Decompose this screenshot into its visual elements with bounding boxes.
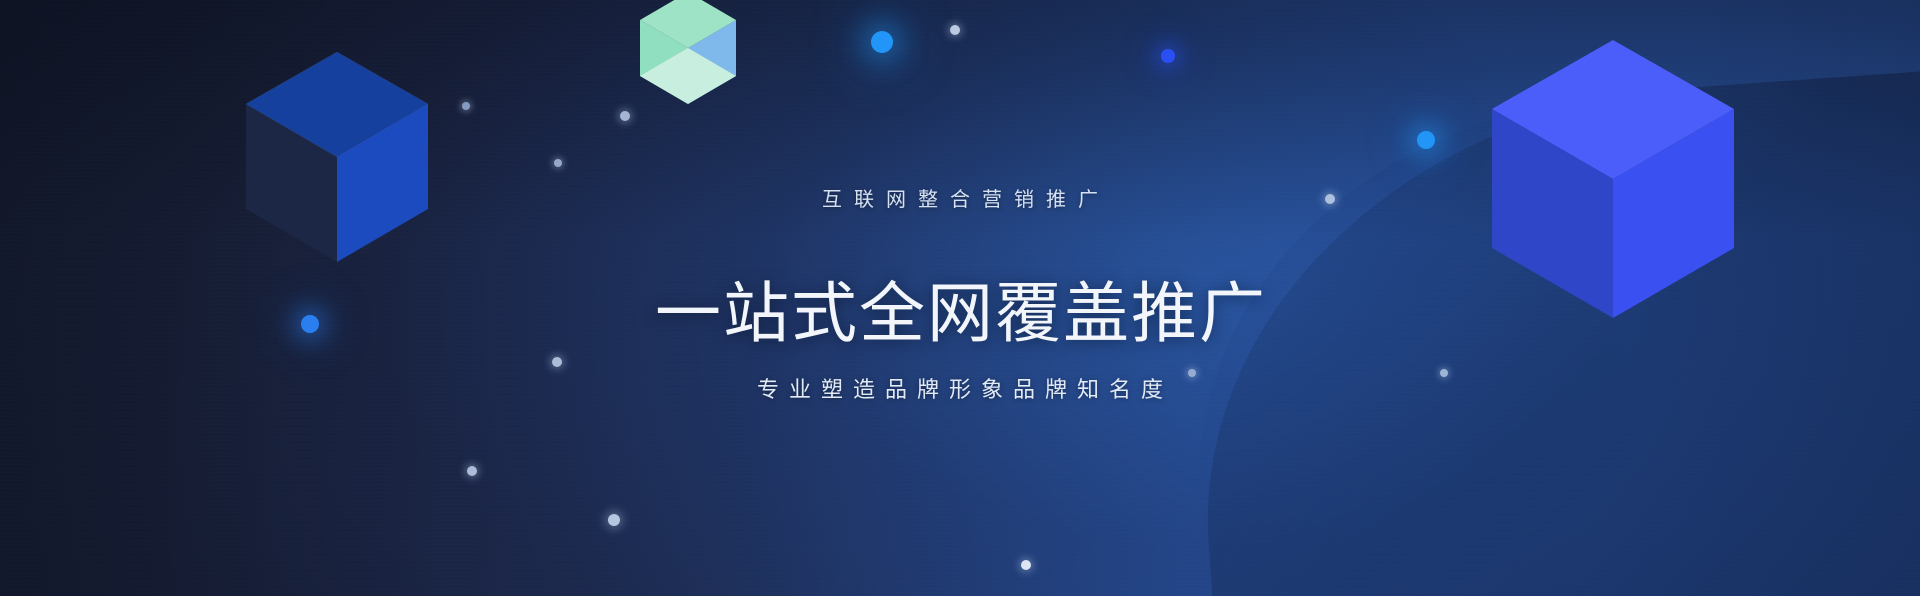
- cube-left-large-icon: [246, 52, 428, 262]
- cube-small-green-icon: [640, 0, 736, 104]
- cube-right-large-icon: [1492, 40, 1734, 318]
- promo-banner: 互联网整合营销推广 一站式全网覆盖推广 专业塑造品牌形象品牌知名度: [0, 0, 1920, 596]
